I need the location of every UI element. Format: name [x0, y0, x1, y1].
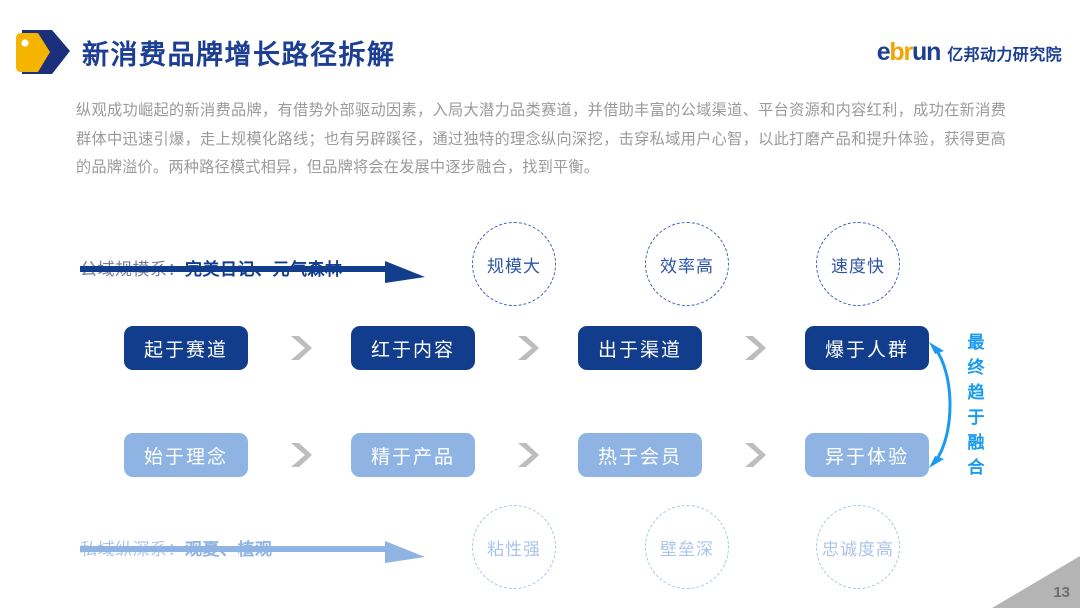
flow-secondary-chip-1[interactable]: 始于理念	[124, 433, 248, 477]
flow-primary-chip-3[interactable]: 出于渠道	[578, 326, 702, 370]
flow-primary-chip-2-label: 红于内容	[371, 335, 455, 362]
bubble-bottom-loyalty: 忠诚度高	[816, 505, 900, 589]
bubble-bottom-barrier-label: 壁垒深	[660, 535, 714, 560]
bubble-top-scale: 规模大	[472, 222, 556, 306]
flow-primary-chip-3-label: 出于渠道	[598, 335, 682, 362]
converge-char-4: 于	[963, 405, 989, 430]
page-number: 13	[1053, 584, 1070, 601]
converge-char-2: 终	[963, 355, 989, 380]
flow-secondary-chip-3[interactable]: 热于会员	[578, 433, 702, 477]
bubble-top-speed-label: 速度快	[831, 252, 885, 277]
flow-secondary-chip-2-label: 精于产品	[371, 442, 455, 469]
private-domain-arrow	[80, 541, 425, 570]
chevron-right-icon	[515, 440, 539, 470]
price-tag-icon	[8, 24, 74, 80]
page-title: 新消费品牌增长路径拆解	[82, 33, 396, 72]
bubble-top-efficiency: 效率高	[645, 222, 729, 306]
slide-canvas: 新消费品牌增长路径拆解 ebrun 亿邦动力研究院 纵观成功崛起的新消费品牌，有…	[0, 0, 1080, 608]
public-domain-arrow	[80, 261, 425, 290]
converge-char-3: 趋	[963, 380, 989, 405]
chevron-right-icon	[742, 333, 766, 363]
bubble-bottom-loyalty-label: 忠诚度高	[822, 535, 894, 560]
flow-secondary-chip-3-label: 热于会员	[598, 442, 682, 469]
chevron-right-icon	[515, 333, 539, 363]
bubble-top-scale-label: 规模大	[487, 252, 541, 277]
converge-char-6: 合	[963, 455, 989, 480]
bubble-top-efficiency-label: 效率高	[660, 252, 714, 277]
ebrun-logo: ebrun 亿邦动力研究院	[877, 40, 1062, 65]
public-domain-axis: 公域规模系：完美日记、元气森林	[80, 238, 425, 290]
flow-primary-chip-1-label: 起于赛道	[144, 335, 228, 362]
flow-secondary-chip-2[interactable]: 精于产品	[351, 433, 475, 477]
converge-vertical-label: 最 终 趋 于 融 合	[963, 330, 989, 480]
converge-char-5: 融	[963, 430, 989, 455]
bubble-bottom-barrier: 壁垒深	[645, 505, 729, 589]
bubble-top-speed: 速度快	[816, 222, 900, 306]
private-domain-axis: 私域纵深系：观夏、植观	[80, 518, 425, 570]
logo-chinese-name: 亿邦动力研究院	[947, 48, 1062, 64]
logo-wordmark-part-c: un	[912, 38, 940, 66]
logo-wordmark-part-a: e	[877, 38, 890, 66]
flow-primary-chip-2[interactable]: 红于内容	[351, 326, 475, 370]
bubble-bottom-stickiness: 粘性强	[472, 505, 556, 589]
flow-secondary-chip-4[interactable]: 异于体验	[805, 433, 929, 477]
double-headed-curved-arrow-icon	[925, 330, 965, 485]
flow-secondary-chip-4-label: 异于体验	[825, 442, 909, 469]
slide-header: 新消费品牌增长路径拆解 ebrun 亿邦动力研究院	[0, 0, 1080, 92]
converge-char-1: 最	[963, 330, 989, 355]
flow-primary-chip-1[interactable]: 起于赛道	[124, 326, 248, 370]
flow-primary-chip-4[interactable]: 爆于人群	[805, 326, 929, 370]
logo-wordmark-part-b: br	[889, 38, 912, 66]
intro-paragraph: 纵观成功崛起的新消费品牌，有借势外部驱动因素，入局大潜力品类赛道，并借助丰富的公…	[76, 97, 1006, 183]
flow-secondary-chip-1-label: 始于理念	[144, 442, 228, 469]
chevron-right-icon	[742, 440, 766, 470]
bubble-bottom-stickiness-label: 粘性强	[487, 535, 541, 560]
flow-primary-chip-4-label: 爆于人群	[825, 335, 909, 362]
chevron-right-icon	[288, 333, 312, 363]
chevron-right-icon	[288, 440, 312, 470]
logo-wordmark: ebrun	[877, 40, 940, 65]
